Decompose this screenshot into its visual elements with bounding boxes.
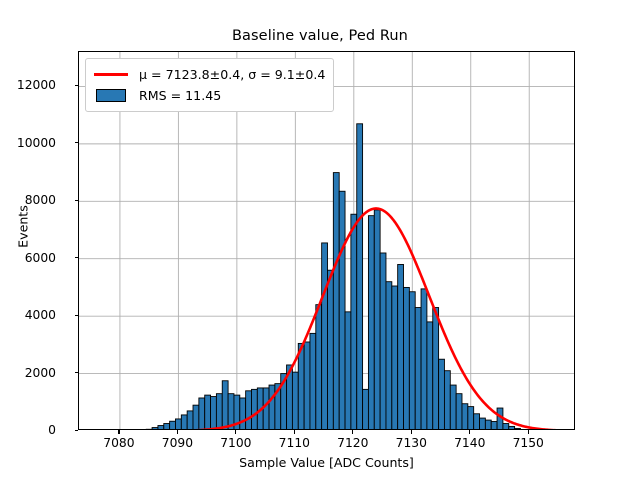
histogram-bar [251,389,257,430]
x-tick-label: 7140 [454,436,485,450]
histogram-bar [345,312,351,430]
legend-label-rms: RMS = 11.45 [139,88,221,103]
histogram-bar [485,420,491,430]
x-tick-label: 7090 [162,436,193,450]
histogram-bar [491,422,497,430]
histogram-bar [374,210,380,430]
histogram-bar [333,173,339,430]
histogram-bar [503,424,509,430]
histogram-bar [433,308,439,430]
histogram-bar [368,216,374,430]
histogram-bar [246,391,252,430]
histogram-bar [509,426,515,430]
axis-tick-mark [469,430,470,434]
histogram-bar [415,308,421,430]
axis-tick-mark [118,430,119,434]
legend-label-fit: μ = 7123.8±0.4, σ = 9.1±0.4 [139,67,325,82]
histogram-bar [187,411,193,430]
histogram-bar [193,405,199,430]
y-tick-label: 8000 [25,193,56,207]
histogram-bar [363,389,369,430]
histogram-bar [421,289,427,430]
legend: μ = 7123.8±0.4, σ = 9.1±0.4 RMS = 11.45 [85,58,334,112]
hist-patch-icon [92,89,130,103]
histogram-bar [357,124,363,430]
histogram-bar [474,414,480,430]
histogram-bar [339,191,345,430]
axis-tick-mark [352,430,353,434]
histogram-bar [298,343,304,430]
histogram-bar [380,253,386,430]
axis-tick-mark [528,430,529,434]
histogram-bar [310,333,316,430]
fit-line-icon [92,68,130,82]
histogram-bar [404,287,410,430]
axis-tick-mark [75,257,79,258]
chart-figure: Baseline value, Ped Run Events Sample Va… [0,0,640,480]
y-tick-label: 10000 [17,136,56,150]
axis-tick-mark [177,430,178,434]
histogram-bar [456,394,462,430]
histogram-bar [444,371,450,430]
legend-entry-fit: μ = 7123.8±0.4, σ = 9.1±0.4 [92,64,325,85]
axis-tick-mark [75,85,79,86]
histogram-bar [409,292,415,430]
histogram-bar [170,421,176,430]
histogram-bar [328,270,334,430]
histogram-bar [152,428,158,430]
axis-tick-mark [235,430,236,434]
legend-entry-rms: RMS = 11.45 [92,85,325,106]
x-tick-label: 7150 [513,436,544,450]
histogram-bar [240,398,246,430]
histogram-bar [468,407,474,430]
histogram-bar [269,385,275,430]
histogram-bar [304,342,310,430]
histogram-bar [146,429,152,430]
histogram-bar [199,398,205,430]
histogram-bar [181,415,187,430]
histogram-bar [322,243,328,430]
y-tick-label: 12000 [17,78,56,92]
chart-title: Baseline value, Ped Run [0,28,640,44]
axis-tick-mark [75,200,79,201]
histogram-bar [292,372,298,430]
histogram-bar [462,404,468,430]
histogram-bars [146,124,532,430]
histogram-bar [515,428,521,430]
histogram-bar [450,385,456,430]
histogram-bar [439,359,445,430]
histogram-bar [316,305,322,430]
histogram-bar [427,322,433,430]
axis-tick-mark [75,372,79,373]
axis-tick-mark [75,430,79,431]
histogram-bar [175,419,181,430]
x-tick-label: 7100 [220,436,251,450]
histogram-bar [216,394,222,430]
y-tick-label: 0 [48,423,56,437]
y-tick-label: 6000 [25,251,56,265]
axis-tick-mark [294,430,295,434]
x-tick-label: 7080 [103,436,134,450]
histogram-bar [164,424,170,430]
x-tick-label: 7110 [279,436,310,450]
histogram-bar [386,282,392,430]
histogram-bar [392,286,398,430]
x-tick-label: 7120 [337,436,368,450]
histogram-bar [222,381,228,430]
y-tick-label: 4000 [25,308,56,322]
axis-tick-mark [75,142,79,143]
histogram-bar [205,395,211,430]
histogram-bar [480,418,486,430]
x-tick-label: 7130 [396,436,427,450]
histogram-bar [211,397,217,430]
histogram-bar [398,264,404,430]
y-tick-label: 2000 [25,366,56,380]
x-axis-label: Sample Value [ADC Counts] [78,455,575,470]
histogram-bar [351,214,357,430]
histogram-bar [158,426,164,430]
histogram-bar [263,388,269,430]
axis-tick-mark [411,430,412,434]
axis-tick-mark [75,315,79,316]
